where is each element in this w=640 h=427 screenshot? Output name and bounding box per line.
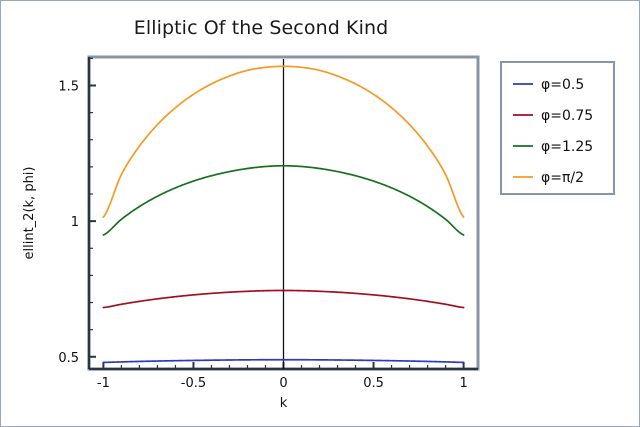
x-tick-label: 1	[459, 376, 467, 391]
y-tick-label: 1	[71, 215, 79, 230]
axis-ticks	[89, 58, 464, 369]
y-tick-label: 1.5	[58, 79, 79, 94]
axis-tick-labels: -1-0.500.510.511.5	[58, 79, 467, 391]
legend-label-1[interactable]: φ=0.75	[541, 108, 593, 124]
legend-label-0[interactable]: φ=0.5	[541, 77, 584, 93]
y-axis-title: ellint_2(k, phi)	[22, 167, 37, 260]
chart-window: Elliptic Of the Second Kind -1-0.500.510…	[0, 0, 640, 427]
legend-label-3[interactable]: φ=π/2	[541, 170, 584, 186]
x-axis-title: k	[280, 396, 288, 411]
y-tick-label: 0.5	[58, 351, 79, 366]
x-tick-label: -1	[97, 376, 110, 391]
legend[interactable]: φ=0.5φ=0.75φ=1.25φ=π/2	[501, 62, 614, 194]
x-tick-label: -0.5	[181, 376, 206, 391]
x-tick-label: 0.5	[363, 376, 384, 391]
chart-svg: -1-0.500.510.511.5 kellint_2(k, phi) φ=0…	[1, 1, 640, 427]
plot-area-wrapper: -1-0.500.510.511.5 kellint_2(k, phi) φ=0…	[1, 1, 640, 427]
x-tick-label: 0	[279, 376, 287, 391]
axis-titles: kellint_2(k, phi)	[22, 167, 288, 411]
legend-label-2[interactable]: φ=1.25	[541, 139, 593, 155]
